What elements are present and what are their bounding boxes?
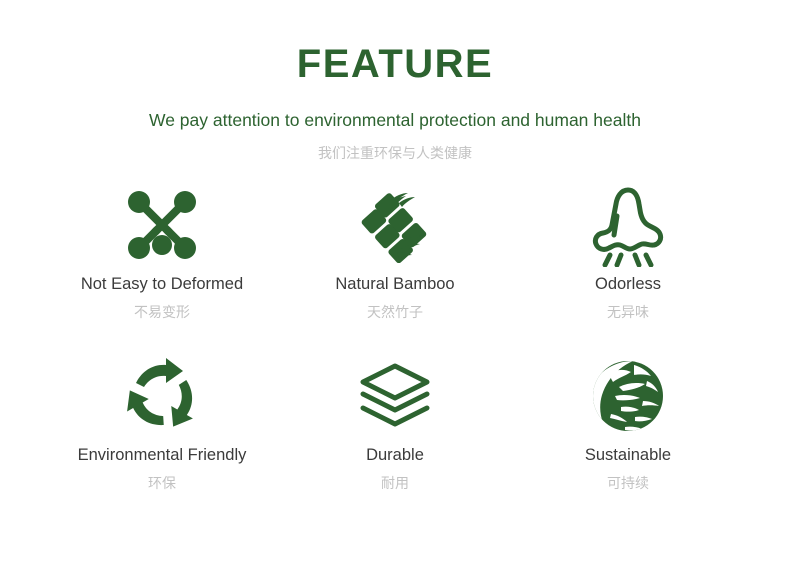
feature-card-not-easy-to-deformed: Not Easy to Deformed 不易变形 [46,180,279,322]
feature-label-en: Sustainable [585,445,671,465]
feature-label-en: Natural Bamboo [335,274,454,294]
feature-grid: Not Easy to Deformed 不易变形 [0,180,790,493]
feature-label-en: Not Easy to Deformed [81,274,243,294]
feature-row-2: Environmental Friendly 环保 [0,351,790,493]
subtitle-english: We pay attention to environmental protec… [0,88,790,131]
layers-stack-icon [357,351,433,441]
feature-label-en: Odorless [595,274,661,294]
feature-label-cn: 耐用 [381,474,409,493]
feature-label-cn: 不易变形 [134,303,190,322]
subtitle-chinese: 我们注重环保与人类健康 [0,131,790,163]
globe-earth-icon [589,351,667,441]
feature-section: FEATURE We pay attention to environmenta… [0,0,790,576]
feature-row-1: Not Easy to Deformed 不易变形 [0,180,790,322]
feature-label-en: Environmental Friendly [78,445,247,465]
molecule-nodes-icon [124,180,200,270]
feature-label-cn: 天然竹子 [367,303,423,322]
page-title: FEATURE [0,0,790,88]
feature-label-cn: 无异味 [607,303,649,322]
feature-label-cn: 环保 [148,474,176,493]
feature-card-natural-bamboo: Natural Bamboo 天然竹子 [279,180,512,322]
bamboo-stalks-icon [357,180,433,270]
feature-card-environmental-friendly: Environmental Friendly 环保 [46,351,279,493]
nose-smell-icon [588,180,668,270]
feature-card-odorless: Odorless 无异味 [512,180,745,322]
feature-card-sustainable: Sustainable 可持续 [512,351,745,493]
feature-card-durable: Durable 耐用 [279,351,512,493]
recycle-arrows-icon [122,351,202,441]
feature-label-cn: 可持续 [607,474,649,493]
feature-label-en: Durable [366,445,424,465]
